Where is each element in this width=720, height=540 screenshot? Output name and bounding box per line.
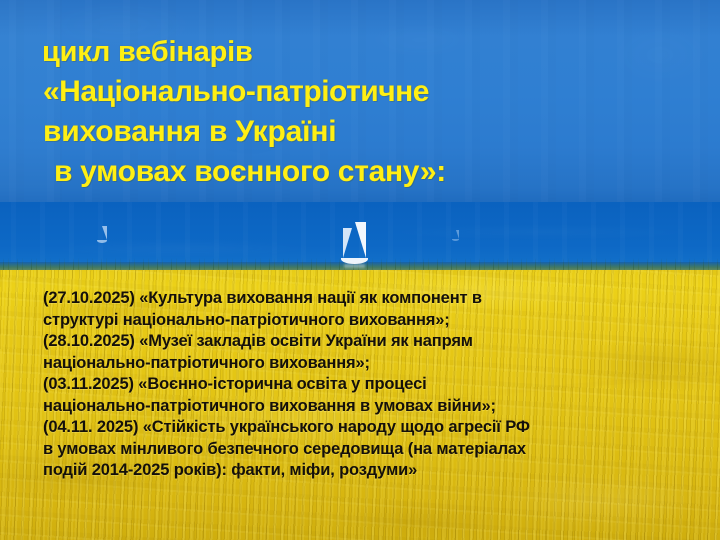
program-line: структурі національно-патріотичного вихо… [43,310,720,332]
program-line: (04.11. 2025) «Стійкість українського на… [43,417,720,439]
program-line: (28.10.2025) «Музеї закладів освіти Укра… [43,331,720,353]
poster-title-line-2: «Національно-патріотичне [0,72,720,112]
sailboat-main-sail [455,230,459,239]
program-line: національно-патріотичного виховання»; [43,353,720,375]
distant-sailboat-icon-left [96,226,108,244]
sailboat-reflection [344,264,365,268]
webinar-announcement-poster: цикл вебінарів «Національно-патріотичне … [0,0,720,540]
poster-title-line-4: в умовах воєнного стану»: [0,152,720,192]
poster-title-line-1: цикл вебінарів [0,32,720,72]
distant-sailboat-icon-center [452,230,459,242]
program-line: національно-патріотичного виховання в ум… [43,396,720,418]
sailboat-main-sail [353,222,366,258]
sailboat-main-sail [101,226,107,240]
poster-title-block: цикл вебінарів «Національно-патріотичне … [0,0,720,192]
sailboat-hull [97,240,107,243]
program-line: (03.11.2025) «Воєнно-історична освіта у … [43,374,720,396]
sailboat-jib-sail [343,228,353,258]
program-line: подій 2014-2025 років): факти, міфи, роз… [43,460,720,482]
sailboat-icon [338,222,372,268]
webinar-program-list: (27.10.2025) «Культура виховання нації я… [0,288,720,482]
program-line: в умовах мінливого безпечного середовища… [43,439,720,461]
program-line: (27.10.2025) «Культура виховання нації я… [43,288,720,310]
sailboat-hull [452,239,459,241]
poster-title-line-3: виховання в Україні [0,112,720,152]
